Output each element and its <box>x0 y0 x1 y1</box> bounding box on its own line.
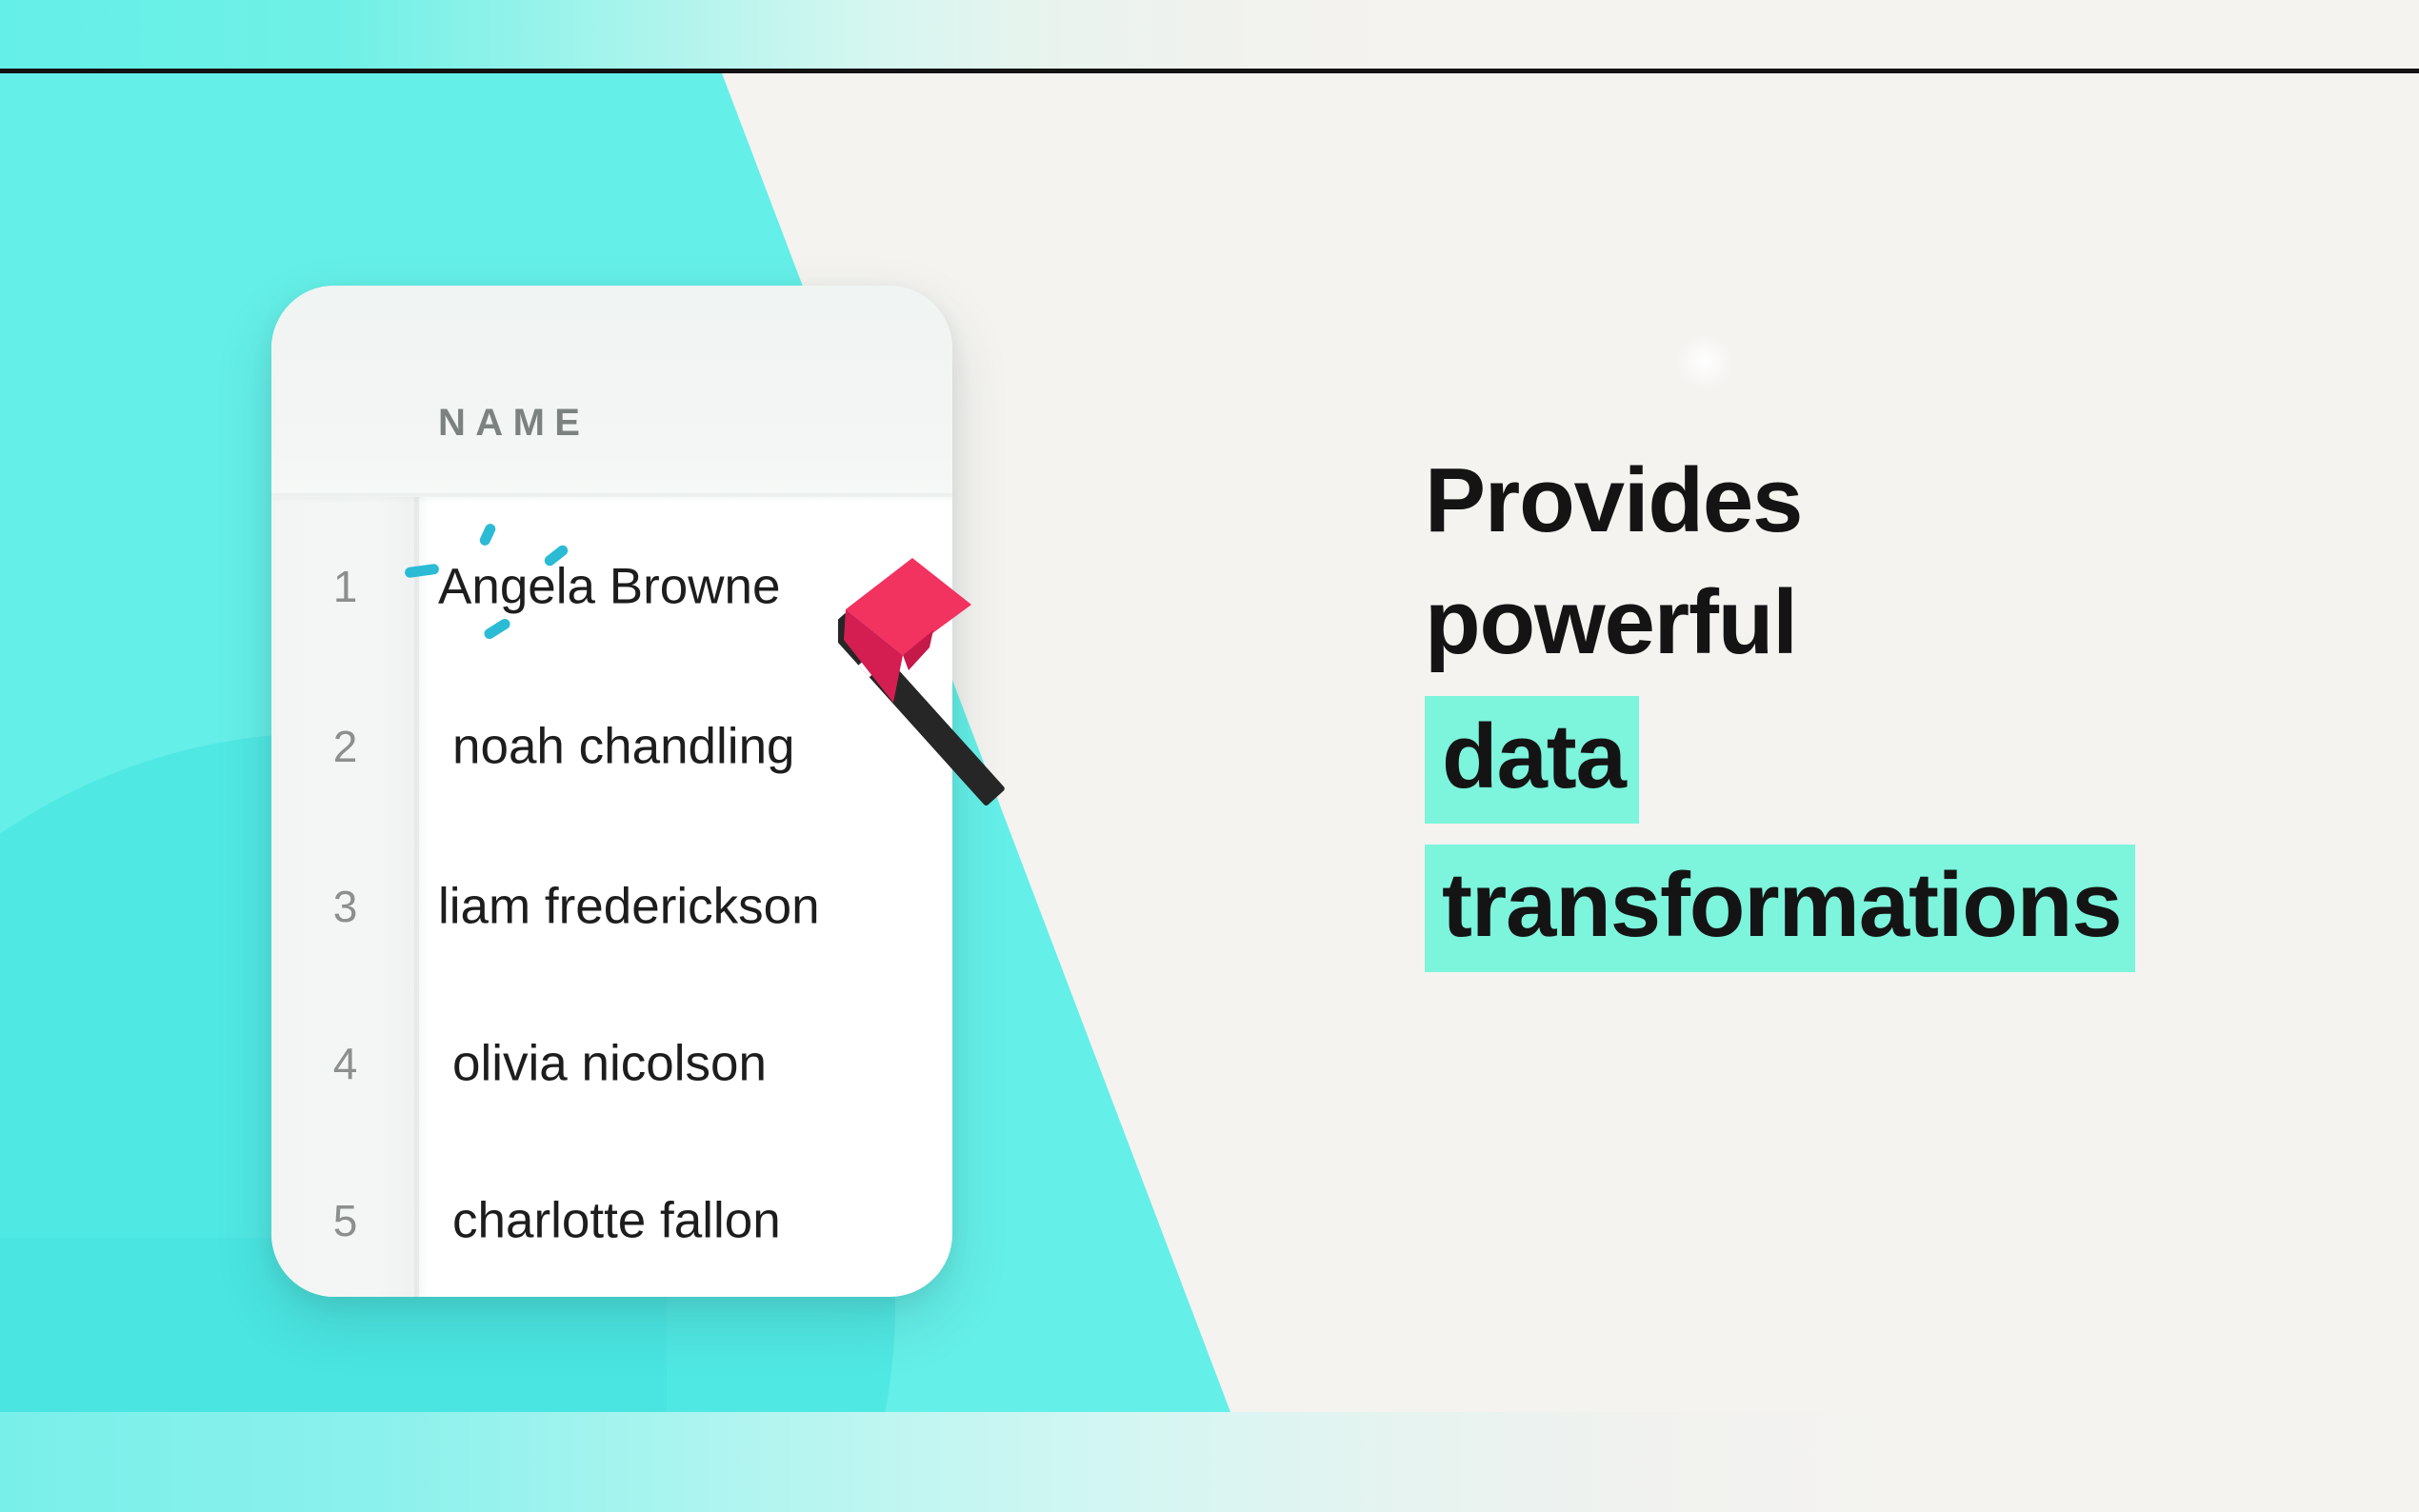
row-name-cell[interactable]: Angela Browne <box>438 557 780 615</box>
row-index: 3 <box>271 881 419 932</box>
highlight-transformations: transformations <box>1425 845 2135 972</box>
arrow-cursor-icon <box>838 552 1152 866</box>
light-flare-dot <box>1676 333 1733 390</box>
header-separator <box>271 493 952 503</box>
bottom-gradient-band <box>0 1412 2419 1512</box>
column-header-name[interactable]: NAME <box>438 402 590 445</box>
row-index: 1 <box>271 561 419 612</box>
row-index: 5 <box>271 1195 419 1246</box>
row-name-cell[interactable]: olivia nicolson <box>452 1034 767 1092</box>
table-header-band: NAME <box>271 286 952 497</box>
row-name-cell[interactable]: liam frederickson <box>438 877 820 935</box>
headline-line-4-wrap: transformations <box>1425 845 2320 972</box>
slide-canvas: NAME 1 Angela Browne 2 noah chandling 3 … <box>0 0 2419 1512</box>
headline-line-3-wrap: data <box>1425 696 2320 824</box>
top-gradient-band <box>0 0 2419 69</box>
top-divider-rule <box>0 69 2419 73</box>
row-name-cell[interactable]: noah chandling <box>452 717 795 775</box>
headline-line-1: Provides <box>1425 440 2320 562</box>
row-name-cell[interactable]: charlotte fallon <box>452 1191 781 1249</box>
table-row[interactable]: 5 charlotte fallon <box>271 1141 952 1297</box>
row-index: 4 <box>271 1038 419 1089</box>
highlight-data: data <box>1425 696 1639 824</box>
headline-line-2: powerful <box>1425 562 2320 684</box>
table-row[interactable]: 4 olivia nicolson <box>271 984 952 1143</box>
row-index: 2 <box>271 721 419 772</box>
headline-block: Provides powerful data transformations <box>1425 440 2320 972</box>
